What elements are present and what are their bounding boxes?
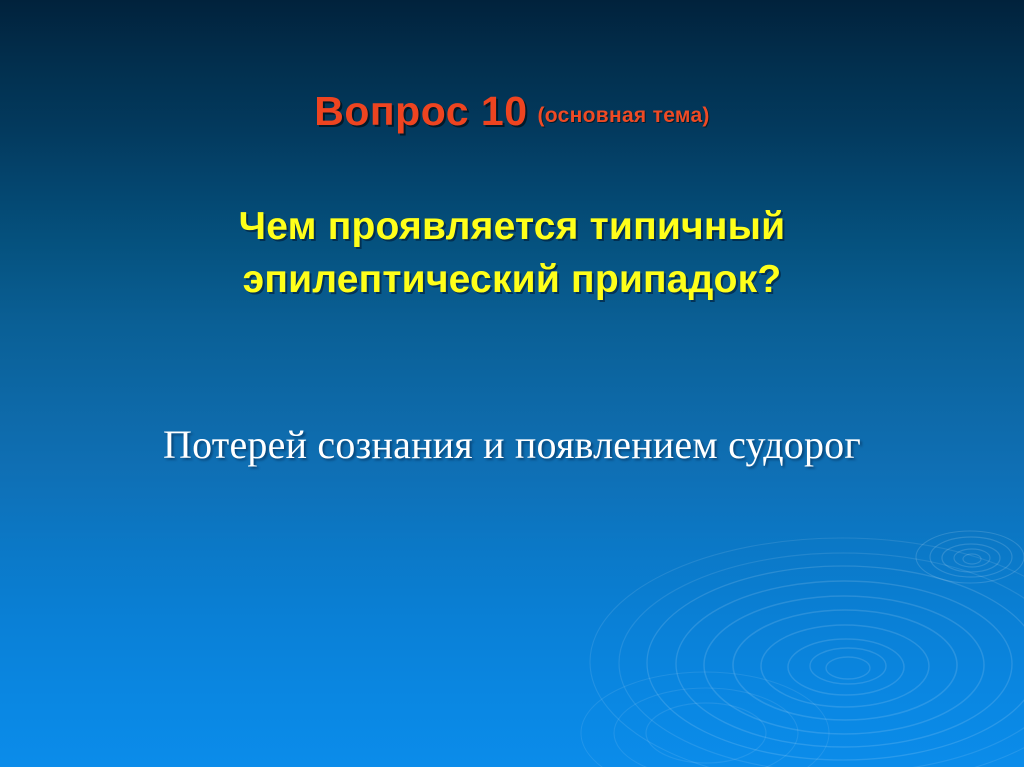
presentation-slide: Вопрос 10(основная тема) Чем проявляется… xyxy=(0,0,1024,767)
answer-text: Потерей сознания и появлением судорог xyxy=(0,421,1024,469)
page-title: Вопрос 10 xyxy=(314,88,527,134)
question-line-1: Чем проявляется типичный xyxy=(0,200,1024,253)
slide-title-row: Вопрос 10(основная тема) xyxy=(0,88,1024,135)
page-subtitle: (основная тема) xyxy=(538,104,710,127)
question-text: Чем проявляется типичный эпилептический … xyxy=(0,200,1024,306)
question-line-2: эпилептический припадок? xyxy=(0,253,1024,306)
